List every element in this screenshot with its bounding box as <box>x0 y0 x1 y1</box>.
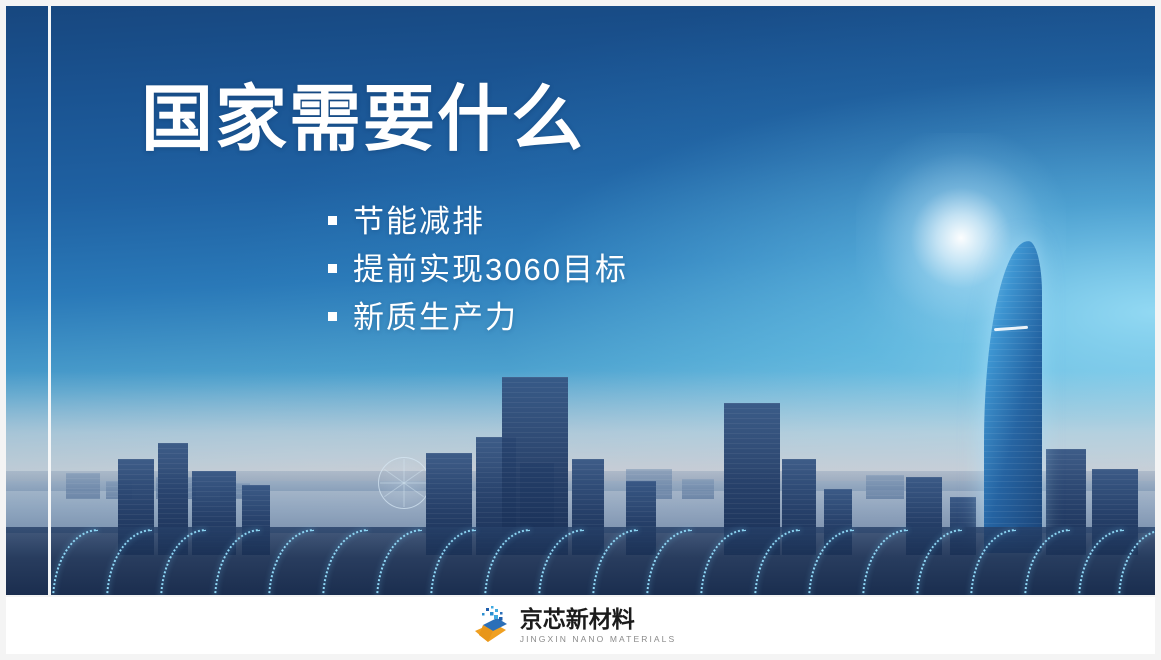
logo-text: 京芯新材料 JINGXIN NANO MATERIALS <box>520 608 677 644</box>
presentation-slide: 国家需要什么 节能减排 提前实现3060目标 新质生产力 <box>0 0 1161 660</box>
logo-name-cn: 京芯新材料 <box>520 608 677 631</box>
list-item: 节能减排 <box>328 194 628 242</box>
building-far <box>682 479 714 499</box>
list-item: 提前实现3060目标 <box>328 242 628 290</box>
foreground-ground <box>6 527 1155 595</box>
bullet-list: 节能减排 提前实现3060目标 新质生产力 <box>328 194 628 338</box>
company-logo: 京芯新材料 JINGXIN NANO MATERIALS <box>469 605 677 647</box>
bullet-text: 提前实现3060目标 <box>353 244 628 289</box>
slide-footer: 京芯新材料 JINGXIN NANO MATERIALS <box>6 597 1155 654</box>
slide-title: 国家需要什么 <box>141 84 585 156</box>
ferris-wheel-icon <box>378 457 430 509</box>
building-far <box>866 475 904 499</box>
square-bullet-icon <box>328 264 337 273</box>
building-far <box>66 473 100 499</box>
wheel-spoke <box>380 483 428 484</box>
wheel-spoke <box>404 459 405 507</box>
city-skyline <box>6 380 1155 595</box>
bullet-text: 节能减排 <box>353 196 485 241</box>
vertical-white-rule <box>48 6 51 595</box>
logo-name-en: JINGXIN NANO MATERIALS <box>520 635 677 644</box>
jingxin-logo-icon <box>469 605 511 647</box>
square-bullet-icon <box>328 216 337 225</box>
bullet-text: 新质生产力 <box>353 292 518 337</box>
square-bullet-icon <box>328 312 337 321</box>
list-item: 新质生产力 <box>328 290 628 338</box>
